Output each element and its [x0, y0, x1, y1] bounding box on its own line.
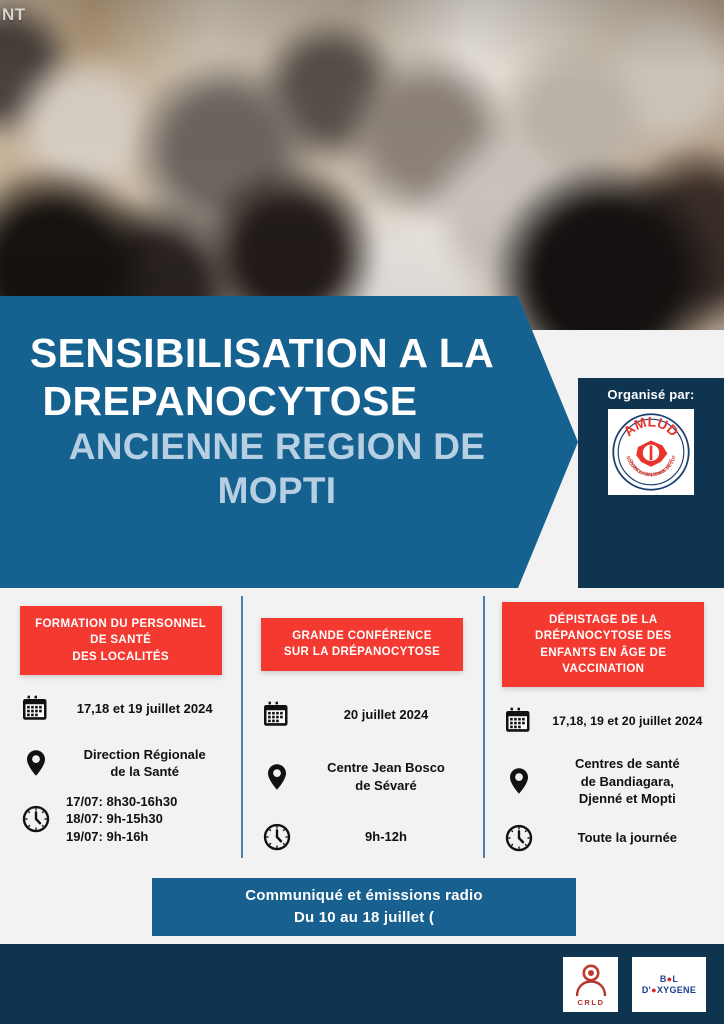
location-pin-icon — [16, 743, 56, 783]
event-time-row: 17/07: 8h30-16h30 18/07: 9h-15h30 19/07:… — [8, 793, 233, 845]
event-time-text: 9h-12h — [297, 828, 474, 845]
location-line: de Bandiagara, — [543, 773, 712, 790]
event-date-text: 17,18, 19 et 20 juillet 2024 — [539, 713, 716, 730]
badge-line: GRANDE CONFÉRENCE — [267, 628, 457, 644]
event-location-row: Centres de santé de Bandiagara, Djenné e… — [491, 755, 716, 807]
badge-line: DÉPISTAGE DE LA — [508, 612, 698, 628]
event-date-row: 20 juillet 2024 — [249, 695, 474, 735]
organizer-panel: Organisé par: AMLUD ASSOCIATION MALIENNE… — [578, 378, 724, 508]
location-line: Djenné et Mopti — [543, 790, 712, 807]
communique-banner: Communiqué et émissions radio Du 10 au 1… — [152, 878, 576, 936]
badge-line: DES LOCALITÉS — [26, 649, 216, 665]
amlud-logo: AMLUD ASSOCIATION MALIENNE DE LUTTE CONT… — [608, 409, 694, 495]
event-location-text: Direction Régionale de la Santé — [56, 746, 233, 781]
badge-line: ENFANTS EN ÂGE DE — [508, 645, 698, 661]
bol-b: B — [660, 974, 667, 984]
event-time-row: 9h-12h — [249, 817, 474, 857]
photo-corner-text-fragment: NT — [2, 5, 26, 25]
organizer-label: Organisé par: — [607, 387, 694, 402]
event-header-badge-1: FORMATION DU PERSONNEL DE SANTÉ DES LOCA… — [20, 606, 222, 675]
location-line: Centre Jean Bosco — [301, 759, 470, 776]
poster-title-line-1: SENSIBILISATION A LA — [0, 330, 540, 378]
event-column-formation: FORMATION DU PERSONNEL DE SANTÉ DES LOCA… — [0, 590, 241, 872]
event-location-text: Centre Jean Bosco de Sévaré — [297, 759, 474, 794]
hero-photo-area: NT — [0, 0, 724, 330]
badge-line: DRÉPANOCYTOSE DES — [508, 628, 698, 644]
bol-l: L — [672, 974, 678, 984]
bol-doxygene-logo: B●L D'●XYGENE — [632, 957, 706, 1012]
badge-line: SUR LA DRÉPANOCYTOSE — [267, 644, 457, 660]
photo-vignette-overlay — [0, 0, 724, 330]
communique-line-2: Du 10 au 18 juillet ( — [294, 907, 434, 929]
event-date-row: 17,18 et 19 juillet 2024 — [8, 689, 233, 729]
location-line: Centres de santé — [543, 755, 712, 772]
badge-line: DE SANTÉ — [26, 632, 216, 648]
calendar-icon — [257, 695, 297, 735]
event-date-row: 17,18, 19 et 20 juillet 2024 — [491, 701, 716, 741]
poster-title-line-2: DREPANOCYTOSE — [0, 378, 540, 426]
bol-d: D' — [642, 985, 651, 995]
location-line: de Sévaré — [301, 777, 470, 794]
clock-icon — [16, 799, 56, 839]
location-line: de la Santé — [60, 763, 229, 780]
crld-logo-text: CRLD — [577, 998, 604, 1007]
event-time-row: Toute la journée — [491, 818, 716, 858]
clock-icon — [257, 817, 297, 857]
bol-xygene: XYGENE — [657, 985, 696, 995]
title-text-block: SENSIBILISATION A LA DREPANOCYTOSE ANCIE… — [0, 330, 540, 514]
calendar-icon — [499, 701, 539, 741]
crld-logo: CRLD — [563, 957, 618, 1012]
time-line: 19/07: 9h-16h — [66, 828, 229, 845]
event-details-section: FORMATION DU PERSONNEL DE SANTÉ DES LOCA… — [0, 590, 724, 872]
event-time-text: Toute la journée — [539, 829, 716, 846]
location-pin-icon — [499, 761, 539, 801]
event-location-text: Centres de santé de Bandiagara, Djenné e… — [539, 755, 716, 807]
partner-logos: CRLD B●L D'●XYGENE — [563, 957, 706, 1012]
location-pin-icon — [257, 757, 297, 797]
footer-bar: CRLD B●L D'●XYGENE — [0, 944, 724, 1024]
amlud-logo-graphic: AMLUD ASSOCIATION MALIENNE DE LUTTE CONT… — [610, 411, 692, 493]
crld-logo-graphic: CRLD — [569, 962, 613, 1008]
badge-line: FORMATION DU PERSONNEL — [26, 616, 216, 632]
communique-line-1: Communiqué et émissions radio — [245, 885, 483, 907]
clock-icon — [499, 818, 539, 858]
time-line: 18/07: 9h-15h30 — [66, 810, 229, 827]
calendar-icon — [16, 689, 56, 729]
event-column-conference: GRANDE CONFÉRENCE SUR LA DRÉPANOCYTOSE — [241, 590, 482, 872]
badge-line: VACCINATION — [508, 661, 698, 677]
event-date-text: 17,18 et 19 juillet 2024 — [56, 700, 233, 717]
poster-subtitle-line-2: MOPTI — [0, 469, 540, 513]
event-date-text: 20 juillet 2024 — [297, 706, 474, 723]
time-line: 17/07: 8h30-16h30 — [66, 793, 229, 810]
location-line: Direction Régionale — [60, 746, 229, 763]
event-column-depistage: DÉPISTAGE DE LA DRÉPANOCYTOSE DES ENFANT… — [483, 590, 724, 872]
event-header-badge-2: GRANDE CONFÉRENCE SUR LA DRÉPANOCYTOSE — [261, 618, 463, 671]
event-location-row: Direction Régionale de la Santé — [8, 743, 233, 783]
poster-root: NT SENSIBILISATION A LA DREPANOCYTOSE AN… — [0, 0, 724, 1024]
event-time-text: 17/07: 8h30-16h30 18/07: 9h-15h30 19/07:… — [56, 793, 233, 845]
poster-subtitle-line-1: ANCIENNE REGION DE — [0, 425, 540, 469]
event-location-row: Centre Jean Bosco de Sévaré — [249, 757, 474, 797]
event-header-badge-3: DÉPISTAGE DE LA DRÉPANOCYTOSE DES ENFANT… — [502, 602, 704, 687]
bol-doxygene-logo-text: B●L D'●XYGENE — [642, 974, 696, 995]
